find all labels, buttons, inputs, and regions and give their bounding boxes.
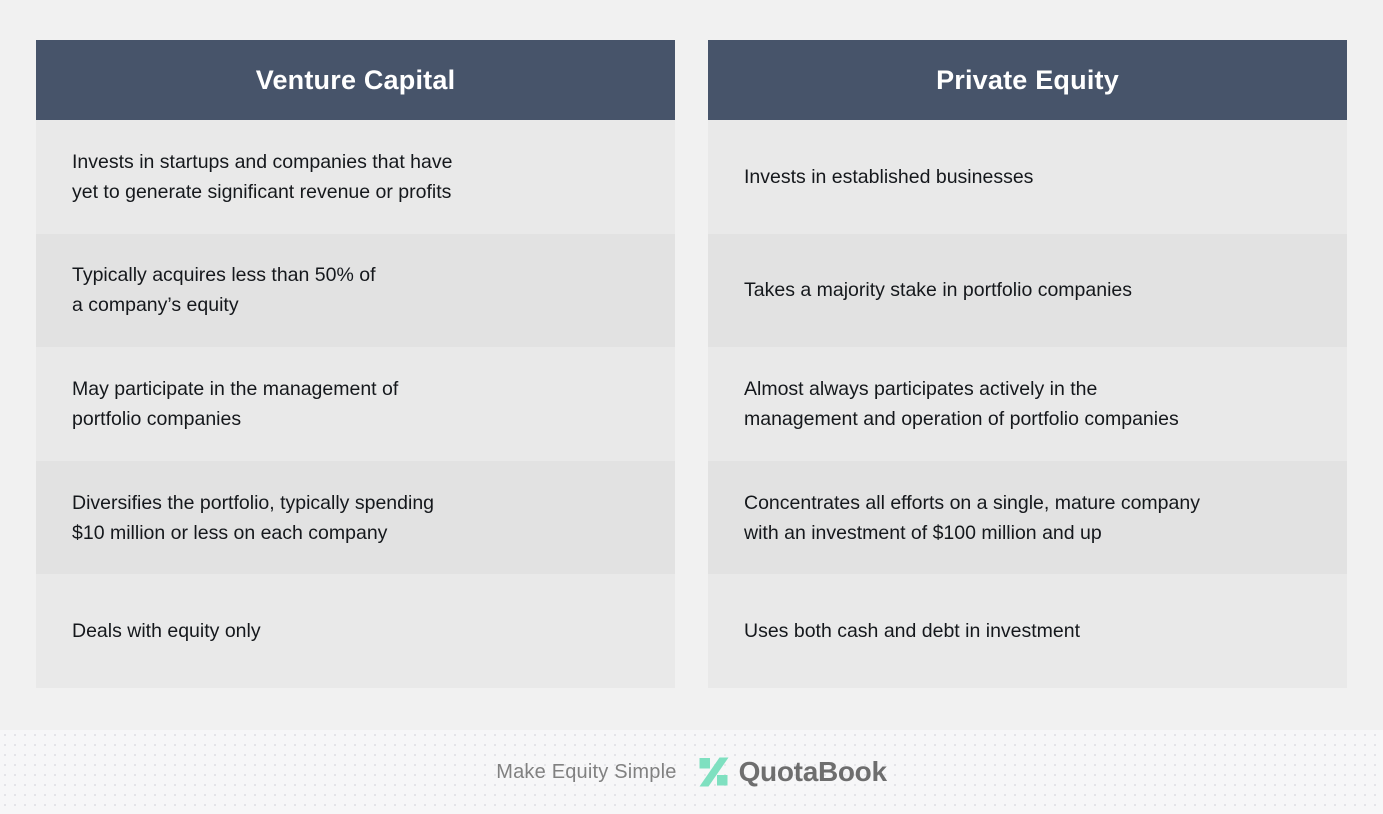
table-row: Almost always participates actively in t…: [708, 347, 1347, 461]
table-row: Deals with equity only: [36, 574, 675, 688]
row-text: Concentrates all efforts on a single, ma…: [744, 488, 1200, 548]
row-text: Almost always participates actively in t…: [744, 374, 1179, 434]
row-text: Invests in startups and companies that h…: [72, 147, 452, 207]
table-row: Invests in established businesses: [708, 120, 1347, 234]
comparison-columns: Venture Capital Invests in startups and …: [36, 40, 1347, 688]
table-row: May participate in the management of por…: [36, 347, 675, 461]
footer-bar: Make Equity Simple QuotaBook: [0, 730, 1383, 814]
table-row: Typically acquires less than 50% of a co…: [36, 234, 675, 348]
row-text: May participate in the management of por…: [72, 374, 398, 434]
row-text: Deals with equity only: [72, 616, 261, 646]
row-text: Diversifies the portfolio, typically spe…: [72, 488, 434, 548]
column-header-venture-capital: Venture Capital: [36, 40, 675, 120]
footer-tagline: Make Equity Simple: [496, 761, 676, 784]
percent-mark-icon: [699, 757, 729, 787]
row-text: Takes a majority stake in portfolio comp…: [744, 275, 1132, 305]
brand-name: QuotaBook: [739, 756, 887, 788]
comparison-table: Venture Capital Invests in startups and …: [0, 0, 1383, 730]
column-header-private-equity: Private Equity: [708, 40, 1347, 120]
table-row: Uses both cash and debt in investment: [708, 574, 1347, 688]
table-row: Concentrates all efforts on a single, ma…: [708, 461, 1347, 575]
column-private-equity: Private Equity Invests in established bu…: [708, 40, 1347, 688]
row-text: Typically acquires less than 50% of a co…: [72, 260, 376, 320]
column-body-venture-capital: Invests in startups and companies that h…: [36, 120, 675, 688]
column-venture-capital: Venture Capital Invests in startups and …: [36, 40, 675, 688]
row-text: Uses both cash and debt in investment: [744, 616, 1080, 646]
column-body-private-equity: Invests in established businesses Takes …: [708, 120, 1347, 688]
row-text: Invests in established businesses: [744, 162, 1033, 192]
table-row: Takes a majority stake in portfolio comp…: [708, 234, 1347, 348]
table-row: Diversifies the portfolio, typically spe…: [36, 461, 675, 575]
table-row: Invests in startups and companies that h…: [36, 120, 675, 234]
brand-logo: QuotaBook: [699, 756, 887, 788]
